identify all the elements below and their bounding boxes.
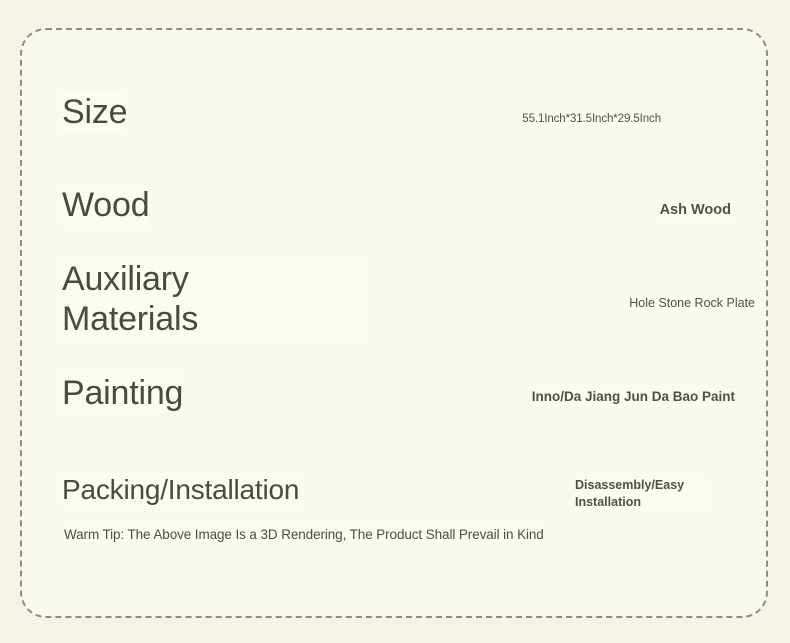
spec-value-painting: Inno/Da Jiang Jun Da Bao Paint	[532, 389, 735, 406]
spec-label-auxiliary-materials: Auxiliary Materials	[62, 259, 362, 339]
spec-value-size: 55.1Inch*31.5Inch*29.5Inch	[522, 112, 661, 126]
spec-row-size: Size 55.1Inch*31.5Inch*29.5Inch	[22, 92, 766, 148]
spec-value-packing-installation: Disassembly/Easy Installation	[575, 477, 705, 511]
specification-panel: Size 55.1Inch*31.5Inch*29.5Inch Wood Ash…	[20, 28, 768, 618]
spec-label-painting: Painting	[62, 373, 183, 413]
spec-row-packing-installation: Packing/Installation Disassembly/Easy In…	[22, 473, 766, 531]
spec-value-wood: Ash Wood	[660, 201, 731, 219]
spec-label-packing-installation: Packing/Installation	[62, 473, 299, 506]
specification-panel-root: Size 55.1Inch*31.5Inch*29.5Inch Wood Ash…	[0, 0, 790, 643]
spec-value-auxiliary-materials: Hole Stone Rock Plate	[629, 296, 755, 312]
spec-label-wood: Wood	[62, 185, 149, 225]
spec-row-auxiliary-materials: Auxiliary Materials Hole Stone Rock Plat…	[22, 259, 766, 349]
spec-row-wood: Wood Ash Wood	[22, 185, 766, 241]
spec-row-painting: Painting Inno/Da Jiang Jun Da Bao Paint	[22, 373, 766, 429]
warm-tip-note: Warm Tip: The Above Image Is a 3D Render…	[64, 527, 544, 542]
spec-label-size: Size	[62, 92, 127, 132]
